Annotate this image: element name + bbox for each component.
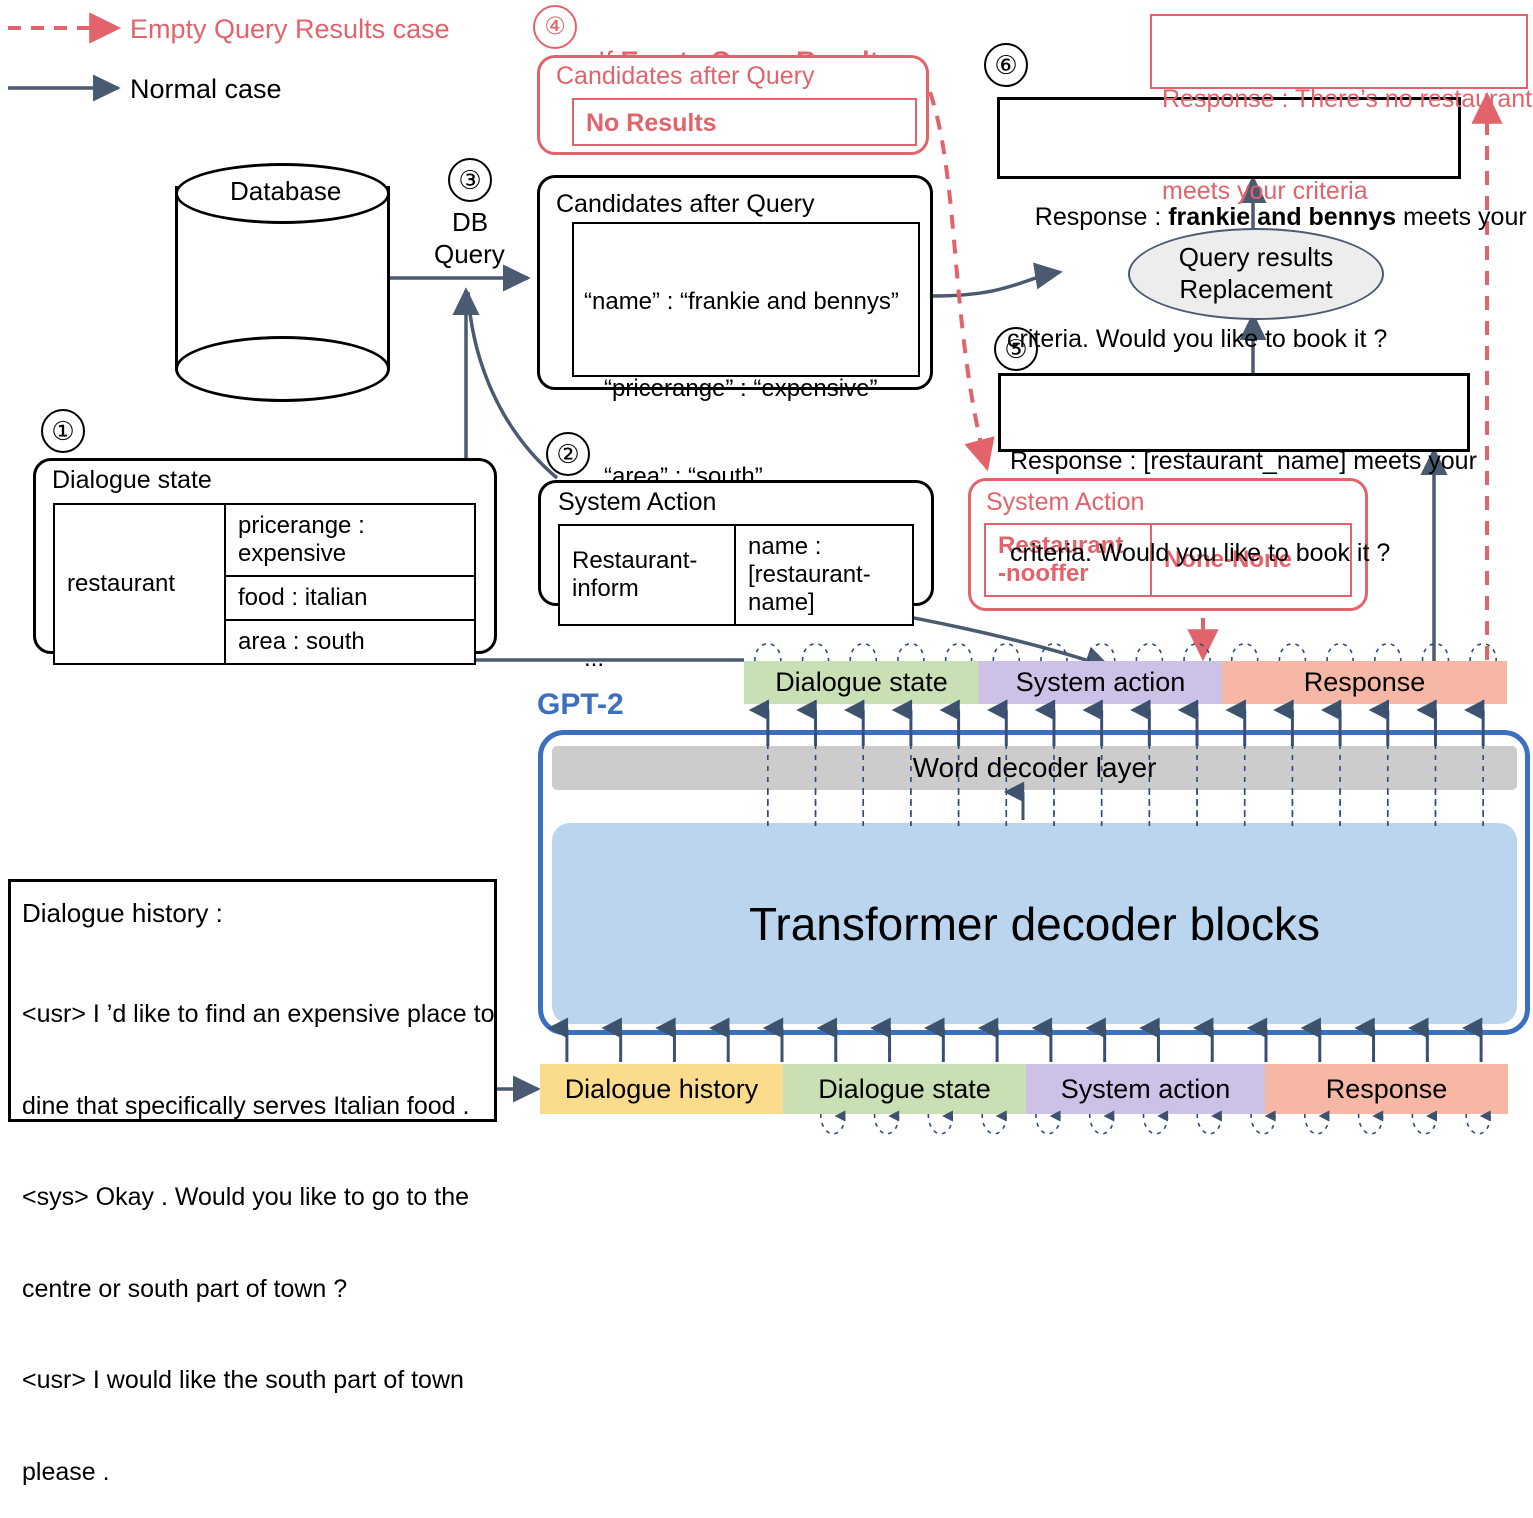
dialogue-history-line-4: <usr> I would like the south part of tow… (22, 1365, 495, 1396)
dialogue-state-domain: restaurant (54, 504, 225, 664)
dialogue-state-slot-0: pricerange : expensive (225, 504, 475, 576)
gpt2-label: GPT-2 (537, 688, 624, 722)
legend-empty-label: Empty Query Results case (130, 13, 450, 46)
output-segment-label: Response (1304, 667, 1426, 698)
database-cylinder-bottom (175, 336, 390, 402)
response-nooffer-text: Response : There’s no restaurant meets y… (1162, 23, 1532, 237)
input-segment-response: Response (1265, 1064, 1508, 1114)
dialogue-history-turns: <usr> I ’d like to find an expensive pla… (22, 938, 495, 1518)
candidates-line-1: “pricerange” : “expensive” (584, 374, 899, 403)
response-nooffer-line2: meets your criteria (1162, 176, 1532, 207)
input-segment-dialogue-state: Dialogue state (783, 1064, 1026, 1114)
response-filled-line2: criteria. Would you like to book it ? (1007, 324, 1527, 355)
candidates-title: Candidates after Query (556, 190, 814, 219)
output-segment-label: System action (1016, 667, 1186, 698)
step-6-number: ⑥ (984, 43, 1028, 87)
response-nooffer-line1: Response : There’s no restaurant (1162, 84, 1532, 115)
input-segment-label: Dialogue history (565, 1074, 759, 1105)
response-delex-text: Response : [restaurant_name] meets your … (1010, 385, 1477, 599)
db-query-line2: Query (434, 239, 505, 271)
input-segment-dialogue-history: Dialogue history (540, 1064, 783, 1114)
dialogue-history-title: Dialogue history : (22, 898, 223, 930)
table-row: restaurant pricerange : expensive (54, 504, 475, 576)
dialogue-history-line-1: dine that specifically serves Italian fo… (22, 1091, 495, 1122)
step-1-number: ① (41, 409, 85, 453)
word-decoder-layer: Word decoder layer (552, 746, 1517, 790)
candidates-line-0: “name” : “frankie and bennys” (584, 287, 899, 316)
step-2-number: ② (546, 432, 590, 476)
dialogue-history-line-5: please . (22, 1457, 495, 1488)
input-segment-label: Response (1326, 1074, 1448, 1105)
step-3-number: ③ (448, 158, 492, 202)
dialogue-state-title: Dialogue state (52, 466, 212, 495)
dialogue-state-table: restaurant pricerange : expensive food :… (53, 503, 476, 665)
output-segment-label: Dialogue state (775, 667, 948, 698)
system-action-table: Restaurant- inform name : [restaurant-na… (558, 524, 914, 626)
input-segment-system-action: System action (1026, 1064, 1265, 1114)
system-action-title: System Action (558, 488, 716, 517)
dialogue-history-line-2: <sys> Okay . Would you like to go to the (22, 1182, 495, 1213)
response-delex-line1: Response : [restaurant_name] meets your (1010, 446, 1477, 477)
output-segment-dialogue-state: Dialogue state (744, 661, 979, 704)
input-segment-label: Dialogue state (818, 1074, 991, 1105)
response-filled-prefix: Response : (1035, 203, 1168, 231)
response-delex-line2: criteria. Would you like to book it ? (1010, 538, 1477, 569)
system-action-act: Restaurant- inform (559, 525, 735, 625)
system-action-slot: name : [restaurant-name] (735, 525, 913, 625)
step-4-number: ④ (533, 5, 577, 49)
empty-candidates-title: Candidates after Query (556, 62, 814, 91)
dialogue-state-slot-1: food : italian (225, 576, 475, 620)
empty-candidates-value: No Results (586, 108, 717, 139)
dialogue-history-line-0: <usr> I ’d like to find an expensive pla… (22, 999, 495, 1030)
output-segment-response: Response (1222, 661, 1507, 704)
dialogue-history-line-3: centre or south part of town ? (22, 1274, 495, 1305)
transformer-decoder-blocks: Transformer decoder blocks (552, 823, 1517, 1024)
output-segment-system-action: System action (979, 661, 1222, 704)
candidates-json: “name” : “frankie and bennys” “pricerang… (584, 228, 899, 702)
db-query-line1: DB (452, 207, 488, 239)
dialogue-state-slot-2: area : south (225, 620, 475, 664)
table-row: Restaurant- inform name : [restaurant-na… (559, 525, 913, 625)
legend-normal-label: Normal case (130, 73, 282, 106)
database-label: Database (230, 176, 341, 208)
input-segment-label: System action (1061, 1074, 1231, 1105)
